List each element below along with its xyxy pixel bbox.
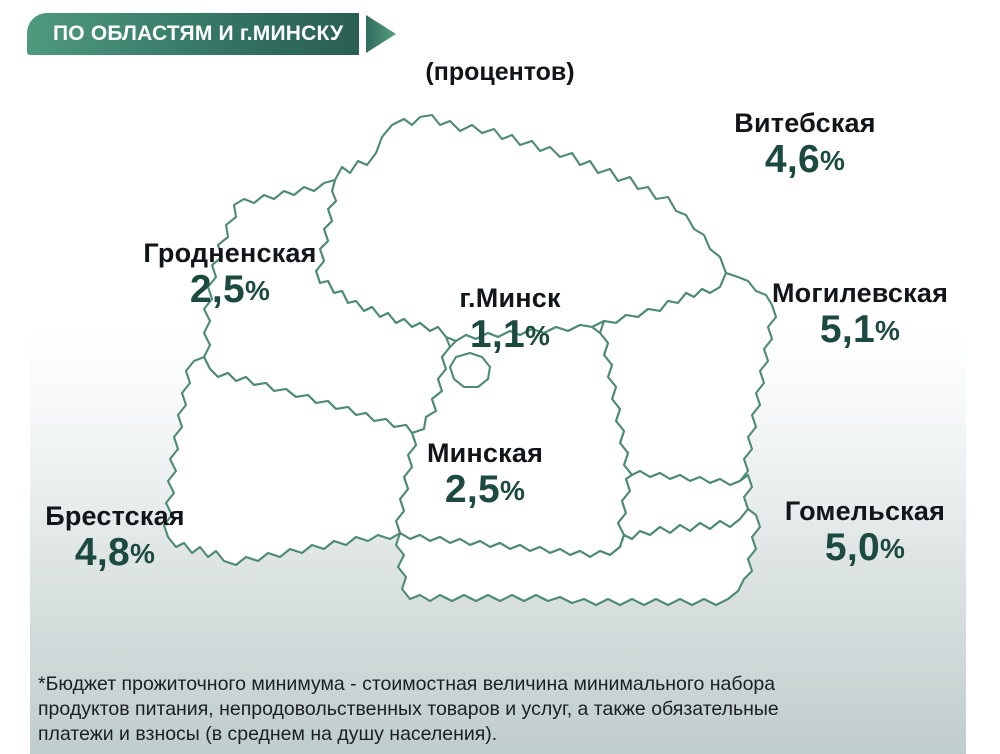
region-value-minsk-city: 1,1% (400, 315, 620, 354)
region-value-vitebsk: 4,6% (660, 140, 950, 179)
region-value-grodno: 2,5% (85, 270, 375, 309)
region-label-brest[interactable]: Брестская 4,8% (0, 503, 230, 572)
region-label-minsk-city[interactable]: г.Минск 1,1% (400, 285, 620, 354)
header-banner: ПО ОБЛАСТЯМ И г.МИНСКУ (27, 13, 396, 55)
region-label-mogilev[interactable]: Могилевская 5,1% (720, 280, 1000, 349)
region-value-minsk-oblast: 2,5% (360, 470, 610, 509)
infographic-page: ПО ОБЛАСТЯМ И г.МИНСКУ (процентов) (0, 0, 1000, 754)
region-name-vitebsk: Витебская (660, 110, 950, 137)
region-label-minsk-oblast[interactable]: Минская 2,5% (360, 440, 610, 509)
footnote-line-2: продуктов питания, непродовольственных т… (38, 697, 948, 722)
region-name-grodno: Гродненская (85, 240, 375, 267)
region-value-mogilev: 5,1% (720, 310, 1000, 349)
region-label-grodno[interactable]: Гродненская 2,5% (85, 240, 375, 309)
region-label-gomel[interactable]: Гомельская 5,0% (730, 498, 1000, 567)
page-title: ПО ОБЛАСТЯМ И г.МИНСКУ (53, 22, 343, 46)
region-name-minsk-oblast: Минская (360, 440, 610, 467)
region-name-gomel: Гомельская (730, 498, 1000, 525)
region-name-brest: Брестская (0, 503, 230, 530)
region-name-mogilev: Могилевская (720, 280, 1000, 307)
footnote: *Бюджет прожиточного минимума - стоимост… (38, 672, 948, 747)
region-value-brest: 4,8% (0, 533, 230, 572)
region-label-vitebsk[interactable]: Витебская 4,6% (660, 110, 950, 179)
header-banner-body: ПО ОБЛАСТЯМ И г.МИНСКУ (27, 13, 359, 55)
region-shape-minsk-city[interactable] (450, 353, 490, 387)
footnote-line-3: платежи и взносы (в среднем на душу насе… (38, 722, 948, 747)
right-arrow-icon (366, 13, 396, 55)
region-name-minsk-city: г.Минск (400, 285, 620, 312)
region-value-gomel: 5,0% (730, 528, 1000, 567)
footnote-line-1: *Бюджет прожиточного минимума - стоимост… (38, 672, 948, 697)
subtitle: (процентов) (0, 58, 1000, 87)
